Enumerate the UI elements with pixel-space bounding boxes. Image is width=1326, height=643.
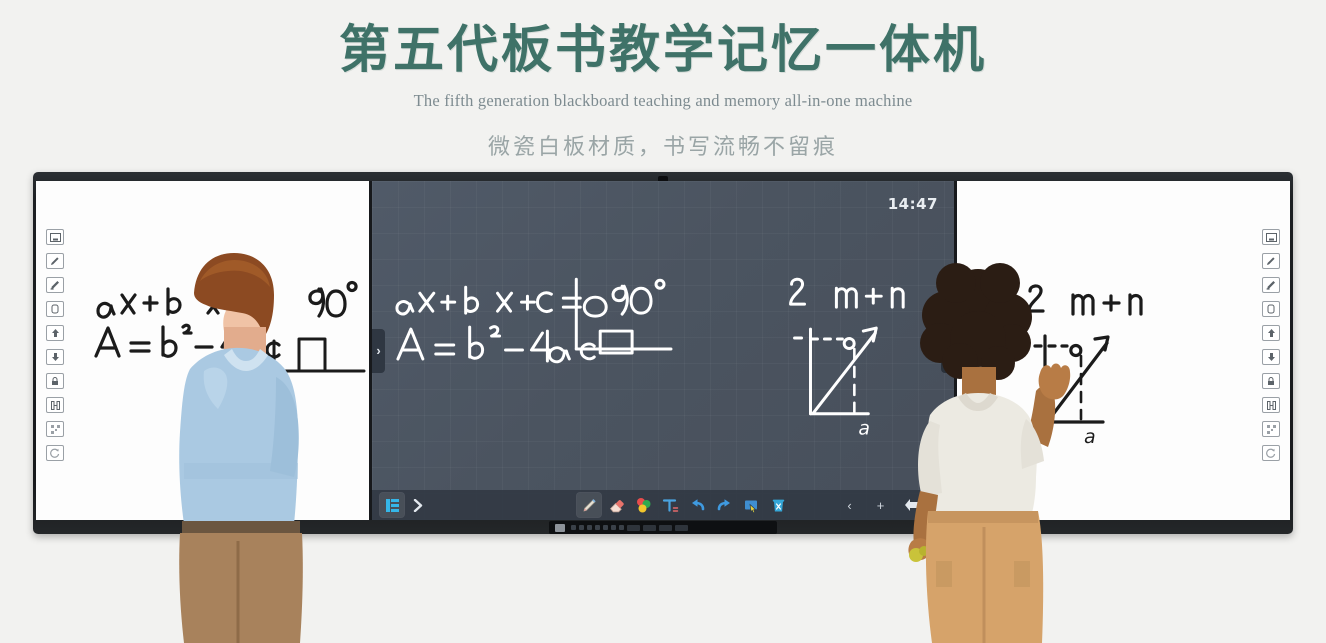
qr-code-icon[interactable]	[1262, 421, 1280, 437]
text-tool[interactable]	[658, 493, 682, 517]
qr-code-icon[interactable]	[46, 421, 64, 437]
select-tool[interactable]	[739, 493, 763, 517]
lock-icon[interactable]	[46, 373, 64, 389]
port	[611, 525, 616, 530]
prev-page-button[interactable]: ‹	[838, 493, 862, 517]
split-screen-icon[interactable]	[1262, 397, 1280, 413]
pen-icon[interactable]	[46, 253, 64, 269]
shape-icon[interactable]	[1262, 301, 1280, 317]
teacher-male	[120, 173, 350, 643]
refresh-icon[interactable]	[46, 445, 64, 461]
add-page-button[interactable]: +	[869, 493, 893, 517]
window-icon[interactable]	[46, 229, 64, 245]
page-title: 第五代板书教学记忆一体机	[0, 0, 1326, 81]
port	[595, 525, 600, 530]
port	[603, 525, 608, 530]
eraser-tool[interactable]	[604, 493, 628, 517]
undo-tool[interactable]	[685, 493, 709, 517]
teacher-male-figure	[120, 173, 350, 643]
toolbar-tools-group	[530, 493, 838, 517]
port	[619, 525, 624, 530]
arrow-up-icon[interactable]	[1262, 325, 1280, 341]
axis-label-a: a	[858, 418, 870, 440]
delete-tool[interactable]	[766, 493, 790, 517]
subtitle-chinese: 微瓷白板材质，书写流畅不留痕	[0, 129, 1326, 161]
center-blackboard[interactable]: 14:47 › ‹	[372, 181, 954, 520]
layers-icon[interactable]	[380, 493, 404, 517]
port-wide	[643, 525, 656, 531]
marker-icon[interactable]	[46, 277, 64, 293]
toolbar-left-group	[372, 493, 530, 517]
sidebar-right	[1260, 229, 1282, 461]
color-tool[interactable]	[631, 493, 655, 517]
device-port-strip	[549, 521, 777, 534]
board-toolbar: ‹ + 1/1	[372, 490, 954, 520]
port	[571, 525, 576, 530]
arrow-down-icon[interactable]	[1262, 349, 1280, 365]
port-wide	[627, 525, 640, 531]
pen-icon[interactable]	[1262, 253, 1280, 269]
brand-logo-icon	[555, 524, 565, 532]
arrow-down-icon[interactable]	[46, 349, 64, 365]
clock-display: 14:47	[888, 195, 938, 213]
refresh-icon[interactable]	[1262, 445, 1280, 461]
port	[587, 525, 592, 530]
teacher-female-figure	[900, 243, 1105, 643]
port	[579, 525, 584, 530]
panel-expand-left-handle[interactable]: ›	[372, 329, 385, 373]
lock-icon[interactable]	[1262, 373, 1280, 389]
subtitle-english: The fifth generation blackboard teaching…	[0, 91, 1326, 111]
arrow-up-icon[interactable]	[46, 325, 64, 341]
page-header: 第五代板书教学记忆一体机 The fifth generation blackb…	[0, 0, 1326, 172]
pen-tool[interactable]	[577, 493, 601, 517]
redo-tool[interactable]	[712, 493, 736, 517]
teacher-female	[900, 243, 1105, 643]
shape-icon[interactable]	[46, 301, 64, 317]
chevron-right-icon[interactable]	[406, 493, 430, 517]
sidebar-left	[44, 229, 66, 461]
marker-icon[interactable]	[1262, 277, 1280, 293]
port-wide	[659, 525, 672, 531]
split-screen-icon[interactable]	[46, 397, 64, 413]
handwriting-center: a	[372, 181, 954, 520]
window-icon[interactable]	[1262, 229, 1280, 245]
port-wide	[675, 525, 688, 531]
